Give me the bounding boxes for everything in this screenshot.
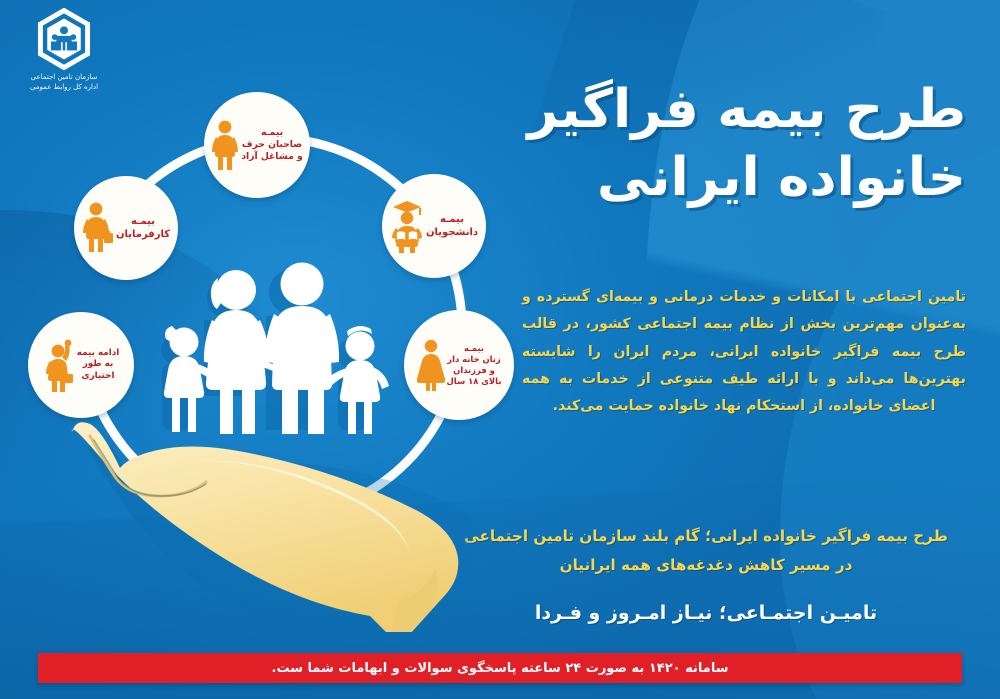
- poster-canvas: سازمان تامین اجتماعی اداره کل روابط عموم…: [0, 0, 1000, 699]
- hotline-footer-text: سامانه ۱۴۲۰ به صورت ۲۴ ساعته پاسخگوی سوا…: [272, 661, 729, 676]
- bubble-self-employed-insurance[interactable]: بیمـه صاحبان حرف و مشاغل آزاد: [204, 92, 310, 198]
- secondary-slogan-line-2: در مسیر کاهش دغدغه‌های همه ایرانیان: [446, 551, 966, 580]
- secondary-slogan: طرح بیمه فراگیر خانواده ایرانی؛ گام بلند…: [446, 522, 966, 580]
- organization-logo: سازمان تامین اجتماعی اداره کل روابط عموم…: [12, 8, 116, 92]
- graduate-with-book-icon: [390, 199, 424, 253]
- bubble-label-housewives: بیمـه زنان خانه دار و فرزندان بالای ۱۸ س…: [447, 343, 502, 387]
- intro-paragraph: تامین اجتماعی با امکانات و خدمات درمانی …: [522, 284, 966, 420]
- bubble-label-students: بیمـه دانشجویان: [426, 213, 478, 239]
- logo-caption-line-2: اداره کل روابط عمومی: [12, 82, 116, 92]
- bubble-label-self-employed: بیمـه صاحبان حرف و مشاغل آزاد: [241, 127, 302, 163]
- hotline-footer-banner: سامانه ۱۴۲۰ به صورت ۲۴ ساعته پاسخگوی سوا…: [38, 653, 962, 683]
- page-title: طرح بیمه فراگیر خانواده ایرانی: [516, 76, 966, 212]
- bubble-employers-insurance[interactable]: بیمـه کارفرمایان: [74, 176, 178, 280]
- bubble-students-insurance[interactable]: بیمـه دانشجویان: [382, 174, 486, 278]
- person-with-briefcase-icon: [82, 202, 114, 254]
- person-raising-hand-icon: [43, 338, 75, 392]
- standing-person-icon: [211, 120, 239, 170]
- social-security-hexagon-icon: [33, 8, 95, 70]
- open-cupped-hand: [60, 396, 472, 632]
- bubble-label-voluntary: ادامه بیمه به طور اختیاری: [77, 348, 120, 382]
- page-title-line-1: طرح بیمه فراگیر: [516, 76, 966, 144]
- logo-caption-line-1: سازمان تامین اجتماعی: [12, 72, 116, 82]
- page-title-line-2: خانواده ایرانی: [516, 144, 966, 212]
- secondary-slogan-line-1: طرح بیمه فراگیر خانواده ایرانی؛ گام بلند…: [446, 522, 966, 551]
- logo-caption: سازمان تامین اجتماعی اداره کل روابط عموم…: [12, 72, 116, 92]
- primary-slogan: تامیـن اجتمـاعی؛ نیـاز امـروز و فـردا: [446, 602, 966, 624]
- bubble-label-employers: بیمـه کارفرمایان: [116, 215, 170, 241]
- woman-icon: [417, 339, 445, 391]
